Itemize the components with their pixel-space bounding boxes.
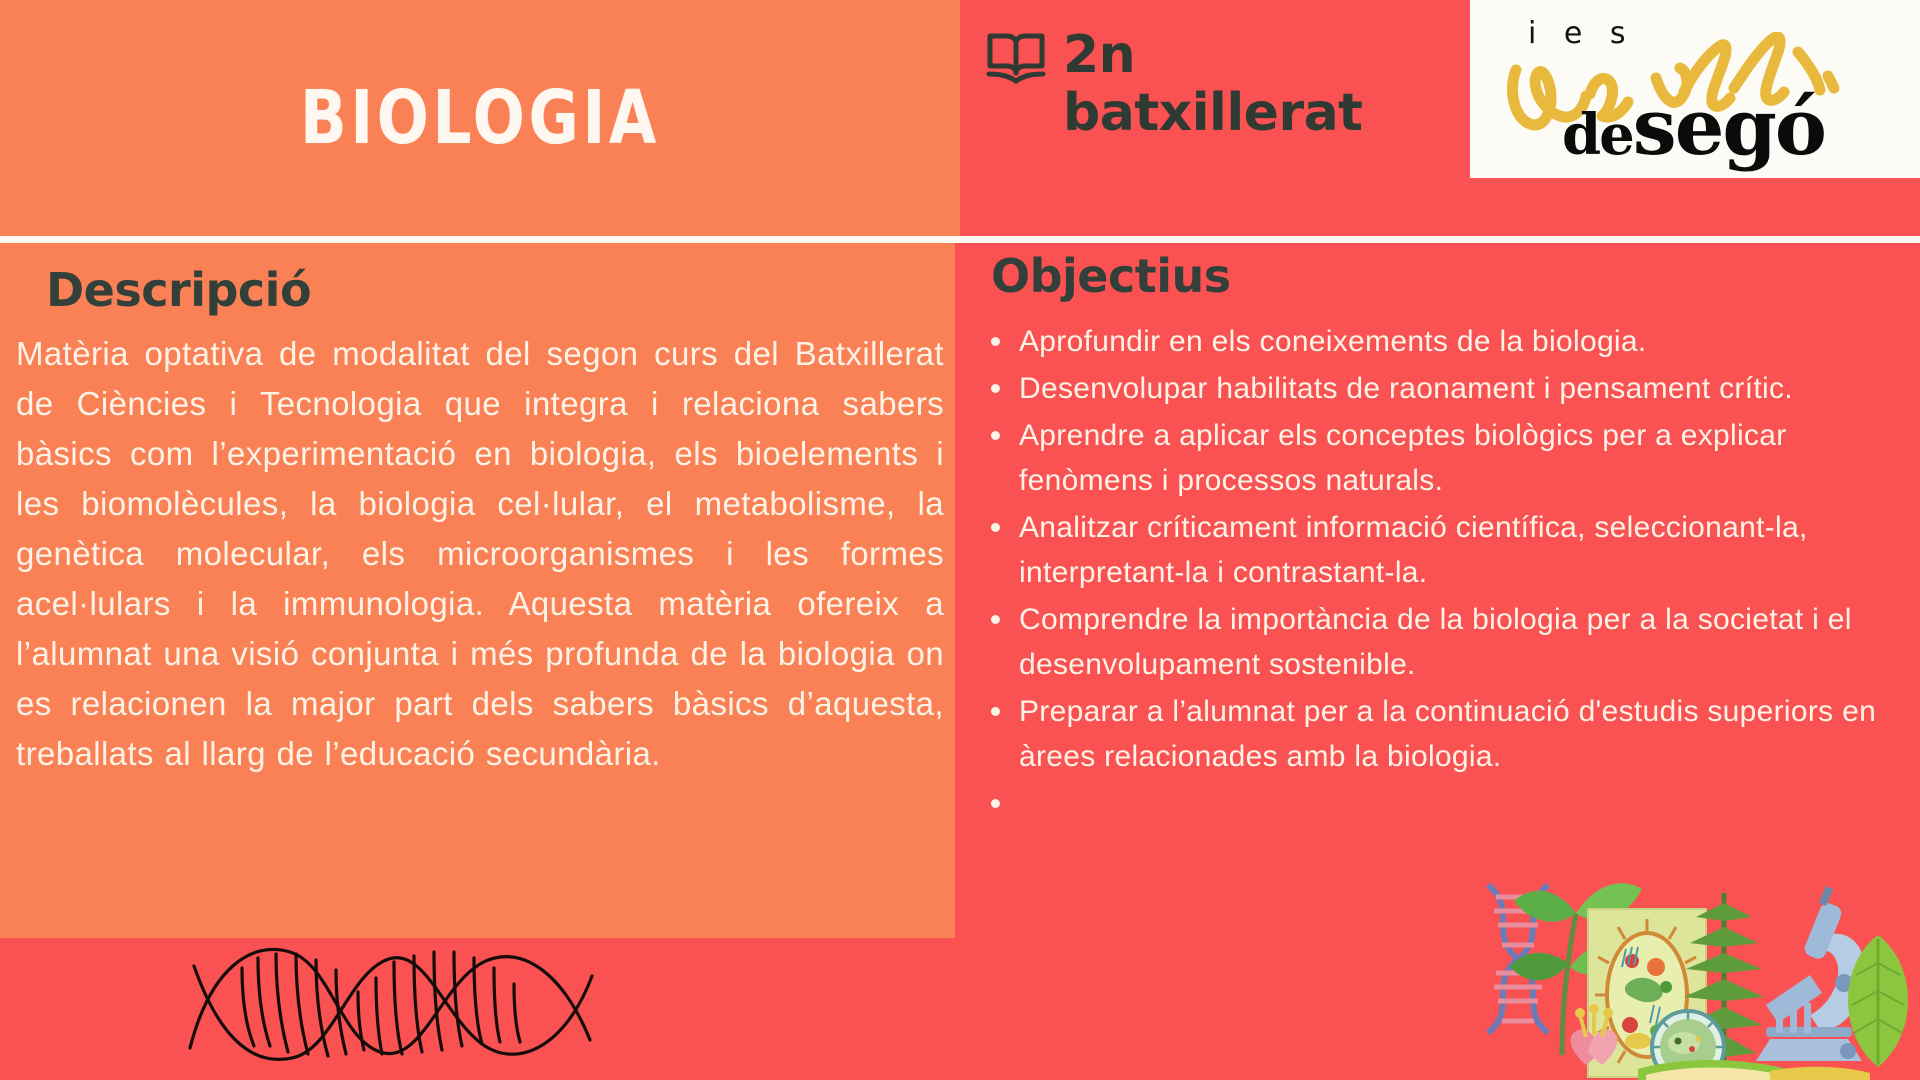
books-stack	[1638, 1060, 1870, 1080]
objective-item: Comprendre la importància de la biologia…	[983, 597, 1913, 687]
header: BIOLOGIA 2n batxillerat i e s	[0, 0, 1920, 236]
objectives-list: Aprofundir en els coneixements de la bio…	[983, 319, 1913, 805]
header-divider	[0, 236, 1920, 243]
description-panel: Descripció Matèria optativa de modalitat…	[0, 243, 955, 938]
page-title: BIOLOGIA	[38, 0, 921, 236]
logo-desego-text: desegó	[1562, 82, 1825, 173]
biology-science-illustration	[1470, 855, 1920, 1080]
objective-item: Desenvolupar habilitats de raonament i p…	[983, 366, 1913, 411]
objective-item	[983, 781, 1913, 803]
description-body: Matèria optativa de modalitat del segon …	[16, 329, 944, 779]
logo-de-text: de	[1562, 102, 1633, 168]
level-line-2: batxillerat	[1063, 83, 1363, 143]
school-logo: i e s desegó	[1470, 0, 1920, 178]
level-label: 2n batxillerat	[1063, 26, 1363, 142]
level-line-1: 2n	[1063, 25, 1135, 85]
logo-sego-text: segó	[1633, 82, 1825, 173]
objective-item: Analitzar críticament informació científ…	[983, 505, 1913, 595]
objective-item: Aprofundir en els coneixements de la bio…	[983, 319, 1913, 364]
flower-icon	[1571, 1004, 1618, 1065]
description-title: Descripció	[46, 263, 311, 317]
objectives-title: Objectius	[991, 249, 1231, 303]
dna-double-helix-icon	[180, 930, 600, 1080]
objective-item: Aprendre a aplicar els conceptes biològi…	[983, 413, 1913, 503]
microscope-icon	[1756, 886, 1865, 1061]
level-block: 2n batxillerat	[985, 26, 1405, 142]
open-book-icon	[985, 30, 1047, 89]
poster-canvas: BIOLOGIA 2n batxillerat i e s	[0, 0, 1920, 1080]
objective-item: Preparar a l’alumnat per a la continuaci…	[983, 689, 1913, 779]
